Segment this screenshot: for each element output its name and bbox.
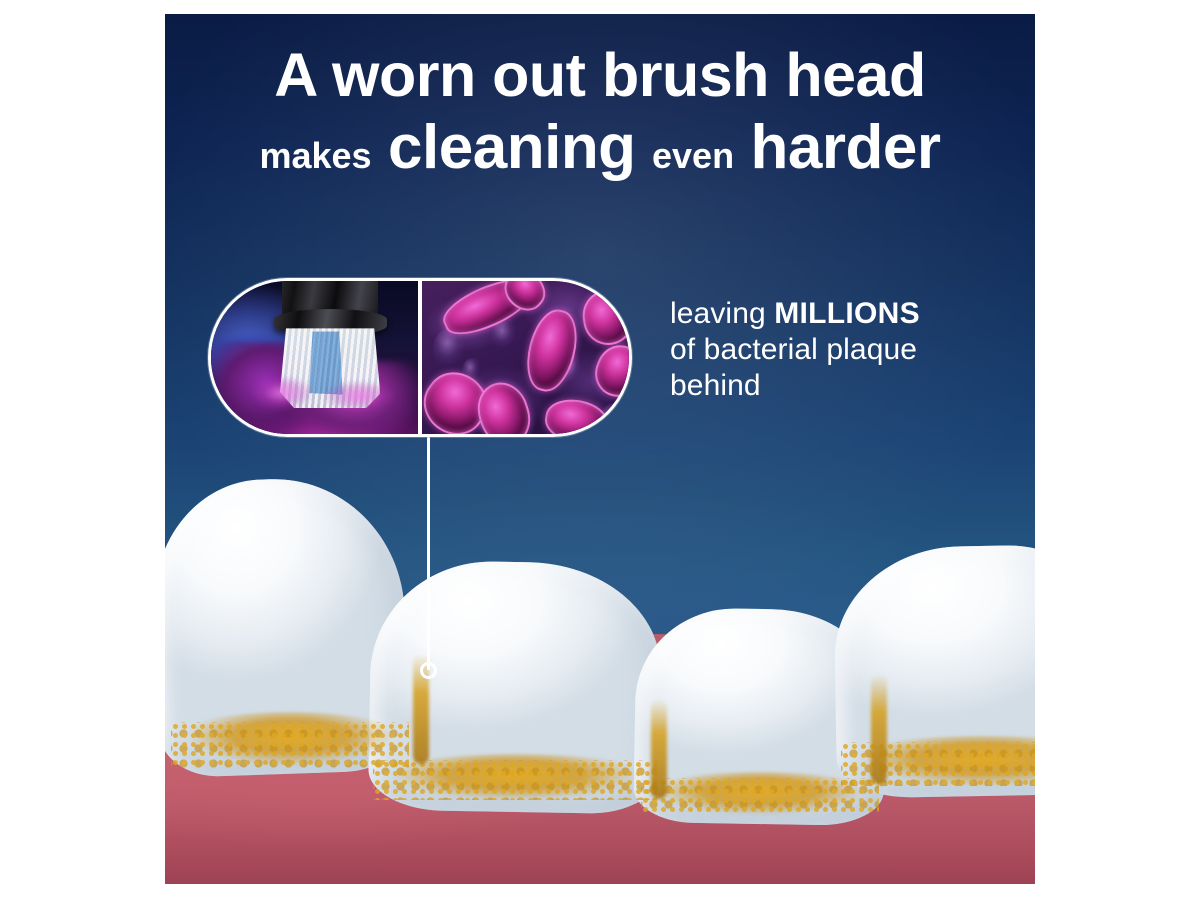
capsule-inset: [208, 278, 632, 437]
headline-line-2: makes cleaning even harder: [165, 116, 1035, 179]
headline-word-cleaning: cleaning: [388, 113, 636, 182]
body-copy-block: leaving MILLIONS of bacterial plaque beh…: [670, 296, 1030, 404]
pointer-target-node: [420, 662, 437, 679]
advertisement-banner: A worn out brush head makes cleaning eve…: [165, 14, 1035, 884]
pointer-leader-line: [427, 437, 430, 670]
body-copy-line-3: behind: [670, 368, 1030, 404]
worn-brush-head-panel: [211, 281, 420, 434]
tartar-granules-2: [373, 760, 657, 800]
plaque-spray-right: [311, 376, 407, 416]
body-copy-lead: leaving: [670, 297, 774, 330]
headline-word-even: even: [652, 135, 734, 176]
headline-word-makes: makes: [259, 135, 371, 176]
body-copy-emphasis: MILLIONS: [774, 297, 920, 330]
headline-line-1: A worn out brush head: [165, 44, 1035, 106]
body-copy-line-1: leaving MILLIONS: [670, 296, 1030, 332]
bacteria-microscope-panel: [420, 281, 629, 434]
headline-block: A worn out brush head makes cleaning eve…: [165, 44, 1035, 179]
interdental-plaque-2: [651, 699, 667, 799]
capsule-divider: [418, 278, 422, 437]
interdental-plaque-3: [871, 674, 887, 784]
body-copy-line-2: of bacterial plaque: [670, 332, 1030, 368]
capsule-inner: [211, 281, 629, 434]
teeth-and-gums-illustration: [165, 464, 1035, 884]
headline-word-harder: harder: [751, 113, 941, 182]
